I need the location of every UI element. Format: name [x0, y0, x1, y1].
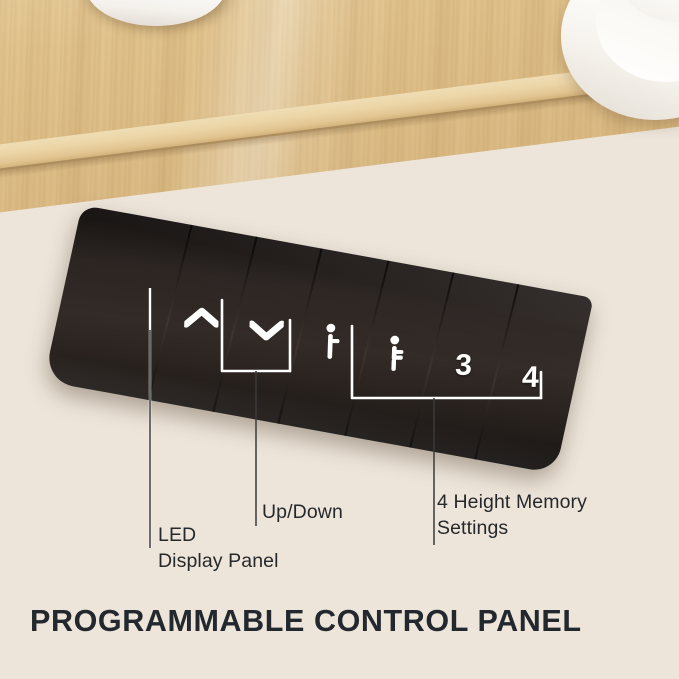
page-title: PROGRAMMABLE CONTROL PANEL: [30, 604, 582, 639]
callout-led: LEDDisplay Panel: [158, 523, 279, 575]
standing-person-icon: [321, 323, 344, 361]
sitting-person-icon: [386, 335, 411, 373]
programmable-control-panel: 3 4: [44, 205, 594, 474]
chevron-up-icon: [184, 307, 219, 329]
callout-led-line2: Display Panel: [158, 550, 279, 572]
memory-preset-3-label: 3: [454, 351, 472, 381]
callout-updown-line1: Up/Down: [262, 501, 343, 523]
chevron-down-icon: [249, 319, 284, 341]
callout-memory-line1: 4 Height Memory: [437, 491, 587, 513]
memory-preset-4-label: 4: [521, 363, 539, 393]
callout-memory-line2: Settings: [437, 517, 508, 539]
callout-memory: 4 Height MemorySettings: [437, 490, 587, 542]
callout-updown: Up/Down: [262, 500, 343, 526]
product-feature-image: 3 4 LEDDisplay Panel Up/Down 4 Height Me…: [0, 0, 679, 679]
callout-led-line1: LED: [158, 524, 196, 546]
